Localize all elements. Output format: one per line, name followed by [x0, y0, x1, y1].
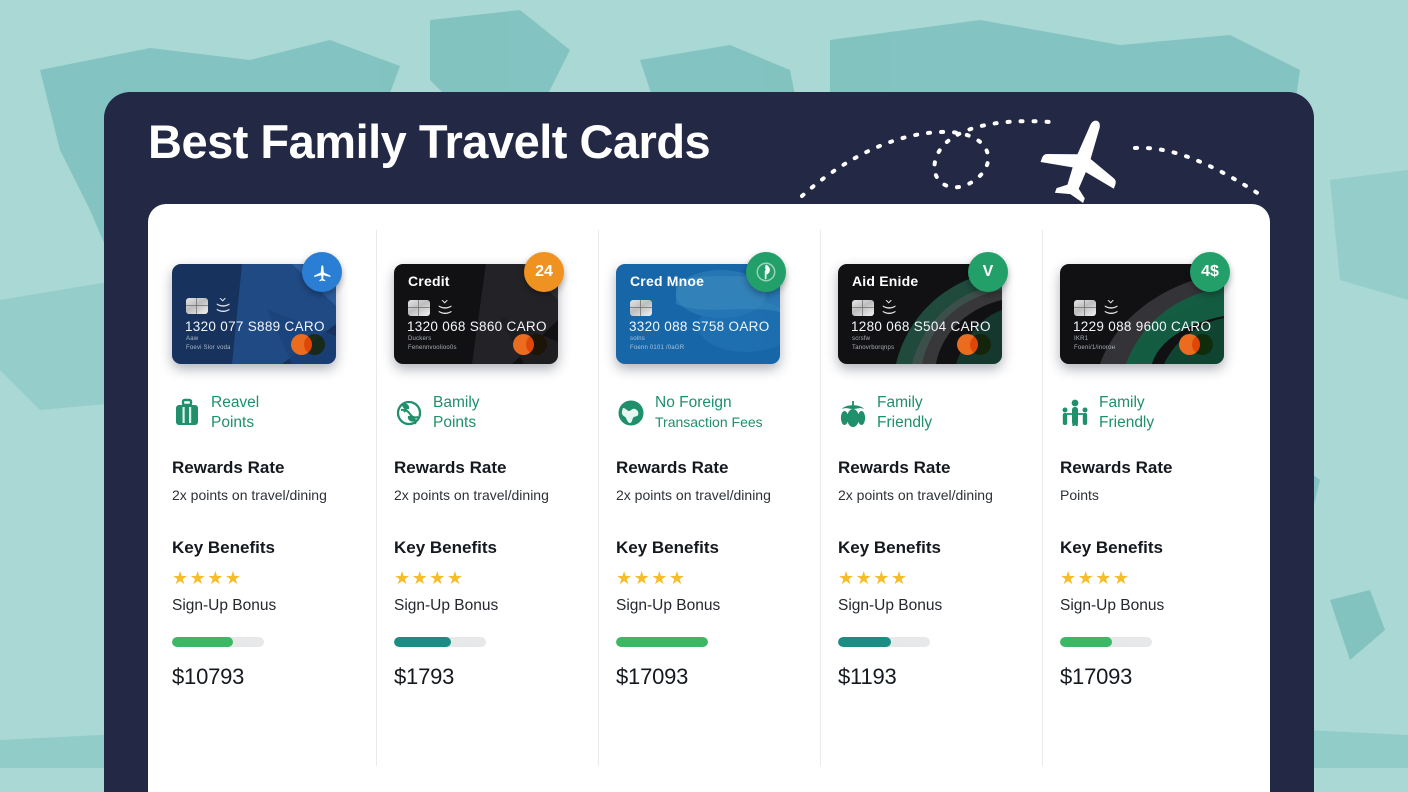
- card-sub-line-1: Duckers: [408, 336, 431, 342]
- rewards-rate-value: 2x points on travel/dining: [616, 486, 802, 504]
- credit-card-graphic: ›)) 1320 077 S889 CARO Aaw Foevi Slor vo…: [172, 252, 336, 356]
- feature-line-2: Friendly: [1099, 414, 1154, 431]
- card-number: 1320 068 S860 CARO: [407, 319, 547, 334]
- card-column[interactable]: ›)) 1229 088 9600 CARO IKR1 Foeni/1/inor…: [1042, 204, 1264, 792]
- key-benefits-title: Key Benefits: [838, 538, 1024, 558]
- credit-card-graphic: ›)) 1229 088 9600 CARO IKR1 Foeni/1/inor…: [1060, 252, 1224, 356]
- card-sub-line-2: Foenn 0101 /0aGR: [630, 345, 684, 351]
- feature-line-1: Family: [1099, 394, 1145, 411]
- progress-bar: [838, 637, 930, 647]
- key-benefits-title: Key Benefits: [394, 538, 580, 558]
- rewards-rate-title: Rewards Rate: [838, 458, 1024, 478]
- card-column[interactable]: Cred Mnoe 3320 088 S758 OARO solns Foenn…: [598, 204, 820, 792]
- emv-chip-icon: [852, 300, 874, 316]
- card-sub-line-1: solns: [630, 336, 645, 342]
- progress-bar: [172, 637, 264, 647]
- progress-bar-fill: [394, 637, 451, 647]
- sign-up-bonus-label: Sign-Up Bonus: [616, 597, 802, 615]
- rewards-rate-title: Rewards Rate: [394, 458, 580, 478]
- price-value: $10793: [172, 664, 358, 690]
- card-sub-line-2: Fenennvoolioo0s: [408, 345, 457, 351]
- key-benefits-title: Key Benefits: [172, 538, 358, 558]
- contactless-icon: ›)): [436, 299, 452, 316]
- main-panel: Best Family Travelt Cards: [104, 92, 1314, 792]
- rewards-rate-title: Rewards Rate: [172, 458, 358, 478]
- card-number: 1229 088 9600 CARO: [1073, 319, 1211, 334]
- feature-highlight: Family Friendly: [838, 390, 1024, 436]
- card-sub-line-1: IKR1: [1074, 336, 1088, 342]
- feature-line-1: No Foreign: [655, 394, 732, 411]
- card-sub-line-1: scrsfw: [852, 336, 870, 342]
- feature-label: No Foreign Transaction Fees: [655, 393, 763, 433]
- star-rating: ★★★★: [394, 570, 580, 588]
- contactless-icon: ›)): [1102, 299, 1118, 316]
- panel-header: Best Family Travelt Cards: [104, 92, 1314, 204]
- card-sub-line-2: Tanovrborqnps: [852, 345, 894, 351]
- card-sub-line-2: Foevi Slor voda: [186, 345, 231, 351]
- emv-chip-icon: [186, 298, 208, 314]
- feature-line-1: Bamily: [433, 394, 480, 411]
- rewards-rate-title: Rewards Rate: [1060, 458, 1246, 478]
- credit-card-graphic: Aid Enide ›)) 1280 068 S504 CARO scrsfw …: [838, 252, 1002, 356]
- star-rating: ★★★★: [172, 570, 358, 588]
- card-badge: [302, 252, 342, 292]
- card-badge: 24: [524, 252, 564, 292]
- card-badge: V: [968, 252, 1008, 292]
- credit-card-graphic: Credit ›)) 1320 068 S860 CARO Duckers Fe…: [394, 252, 558, 356]
- card-column[interactable]: Aid Enide ›)) 1280 068 S504 CARO scrsfw …: [820, 204, 1042, 792]
- feature-line-2: Points: [433, 414, 476, 431]
- price-value: $1793: [394, 664, 580, 690]
- progress-bar-fill: [838, 637, 891, 647]
- rewards-rate-value: 2x points on travel/dining: [838, 486, 1024, 504]
- sign-up-bonus-label: Sign-Up Bonus: [394, 597, 580, 615]
- feature-highlight: Family Friendly: [1060, 390, 1246, 436]
- progress-bar-fill: [172, 637, 233, 647]
- star-rating: ★★★★: [1060, 570, 1246, 588]
- card-brand-word: Credit: [408, 273, 450, 289]
- card-number: 1320 077 S889 CARO: [185, 319, 325, 334]
- feature-label: Family Friendly: [877, 393, 932, 433]
- mastercard-icon: [957, 334, 991, 355]
- progress-bar: [394, 637, 486, 647]
- feature-label: Bamily Points: [433, 393, 480, 433]
- feature-highlight: Reavel Points: [172, 390, 358, 436]
- contactless-icon: ›)): [214, 297, 230, 314]
- card-column[interactable]: Credit ›)) 1320 068 S860 CARO Duckers Fe…: [376, 204, 598, 792]
- feature-line-2: Friendly: [877, 414, 932, 431]
- mastercard-icon: [513, 334, 547, 355]
- star-rating: ★★★★: [838, 570, 1024, 588]
- key-benefits-title: Key Benefits: [616, 538, 802, 558]
- card-badge: [746, 252, 786, 292]
- progress-bar: [616, 637, 708, 647]
- comparison-sheet: ›)) 1320 077 S889 CARO Aaw Foevi Slor vo…: [148, 204, 1270, 792]
- feature-label: Reavel Points: [211, 393, 259, 433]
- family-umbrella-icon: [838, 397, 868, 429]
- feature-line-2: Points: [211, 414, 254, 431]
- mastercard-icon: [291, 334, 325, 355]
- card-sub-line-2: Foeni/1/inoroн: [1074, 345, 1115, 351]
- sign-up-bonus-label: Sign-Up Bonus: [172, 597, 358, 615]
- feature-line-1: Reavel: [211, 394, 259, 411]
- credit-card-graphic: Cred Mnoe 3320 088 S758 OARO solns Foenn…: [616, 252, 780, 356]
- progress-bar: [1060, 637, 1152, 647]
- card-brand-word: Aid Enide: [852, 273, 918, 289]
- contactless-icon: ›)): [880, 299, 896, 316]
- emv-chip-icon: [408, 300, 430, 316]
- globe-icon: [616, 397, 646, 429]
- card-column[interactable]: ›)) 1320 077 S889 CARO Aaw Foevi Slor vo…: [154, 204, 376, 792]
- sign-up-bonus-label: Sign-Up Bonus: [838, 597, 1024, 615]
- progress-bar-fill: [1060, 637, 1112, 647]
- rewards-rate-title: Rewards Rate: [616, 458, 802, 478]
- family-people-icon: [1060, 397, 1090, 429]
- key-benefits-title: Key Benefits: [1060, 538, 1246, 558]
- rewards-rate-value: Points: [1060, 486, 1246, 504]
- card-brand-word: Cred Mnoe: [630, 273, 704, 289]
- mastercard-icon: [1179, 334, 1213, 355]
- card-number: 1280 068 S504 CARO: [851, 319, 991, 334]
- card-sub-line-1: Aaw: [186, 336, 198, 342]
- price-value: $17093: [1060, 664, 1246, 690]
- airplane-icon: [312, 262, 333, 283]
- rewards-rate-value: 2x points on travel/dining: [172, 486, 358, 504]
- page-title: Best Family Travelt Cards: [148, 114, 710, 169]
- feature-label: Family Friendly: [1099, 393, 1154, 433]
- globe-leaf-icon: [394, 397, 424, 429]
- card-badge: 4$: [1190, 252, 1230, 292]
- feature-highlight: No Foreign Transaction Fees: [616, 390, 802, 436]
- sign-up-bonus-label: Sign-Up Bonus: [1060, 597, 1246, 615]
- rewards-rate-value: 2x points on travel/dining: [394, 486, 580, 504]
- emv-chip-icon: [630, 300, 652, 316]
- price-value: $1193: [838, 664, 1024, 690]
- progress-bar-fill: [616, 637, 708, 647]
- price-value: $17093: [616, 664, 802, 690]
- feature-highlight: Bamily Points: [394, 390, 580, 436]
- emv-chip-icon: [1074, 300, 1096, 316]
- star-rating: ★★★★: [616, 570, 802, 588]
- airplane-icon: [800, 100, 1270, 204]
- card-number: 3320 088 S758 OARO: [629, 319, 770, 334]
- suitcase-icon: [172, 397, 202, 429]
- leaf-globe-icon: [755, 261, 777, 283]
- feature-line-1: Family: [877, 394, 923, 411]
- feature-line-2: Transaction Fees: [655, 414, 763, 430]
